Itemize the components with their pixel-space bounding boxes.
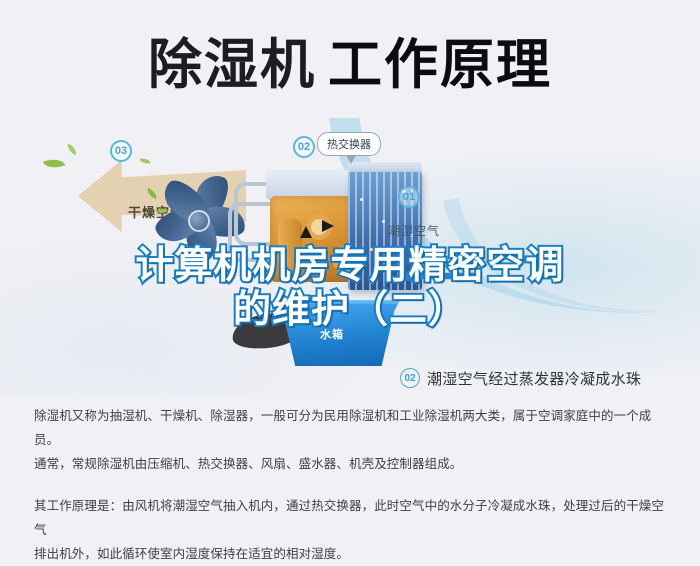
diagram-badge-01: 01 (398, 186, 420, 208)
page-title-part2: 工作原理 (328, 35, 552, 95)
copy-paragraph-2: 通常，常规除湿机由压缩机、热交换器、风扇、盛水器、机壳及控制器组成。 (34, 452, 666, 476)
page-title: 除湿机工作原理 (0, 22, 700, 108)
diagram-badge-02: 02 (293, 136, 315, 158)
fan-hub (188, 210, 210, 232)
dehumidifier-internals (244, 160, 404, 300)
step-badge: 02 (400, 368, 420, 388)
body-copy: 除湿机又称为抽湿机、干燥机、除湿器，一般可分为民用除湿机和工业除湿机两大类，属于… (0, 404, 700, 566)
poster-root: 除湿机工作原理 干燥空气 (0, 0, 700, 566)
copy-paragraph-4: 排出机外，如此循环使室内湿度保持在适宜的相对湿度。 (34, 542, 666, 566)
flow-arrow-up-icon (300, 226, 312, 238)
copy-paragraph-1: 除湿机又称为抽湿机、干燥机、除湿器，一般可分为民用除湿机和工业除湿机两大类，属于… (34, 404, 666, 452)
humid-air-label: 潮湿空气 (388, 222, 440, 239)
diagram-badge-03: 03 (110, 140, 132, 162)
copy-paragraph-3: 其工作原理是：由风机将潮湿空气抽入机内，通过热交换器，此时空气中的水分子冷凝成水… (34, 494, 666, 542)
flow-arrow-right-icon (322, 220, 334, 232)
water-tank-label: 水箱 (320, 326, 344, 342)
compressor-cylinder (278, 218, 302, 272)
heat-exchanger-callout: 热交换器 (317, 132, 381, 156)
step-text: 潮湿空气经过蒸发器冷凝成水珠 (427, 368, 641, 389)
page-title-part1: 除湿机 (148, 35, 316, 95)
step-row: 02 潮湿空气经过蒸发器冷凝成水珠 (400, 362, 690, 394)
dehumidifier-diagram: 干燥空气 (0, 118, 700, 398)
step-row: 03 从上部出风口吹出清新干爽空气 (400, 394, 690, 398)
step-legend: 02 潮湿空气经过蒸发器冷凝成水珠 03 从上部出风口吹出清新干爽空气 (400, 362, 690, 398)
